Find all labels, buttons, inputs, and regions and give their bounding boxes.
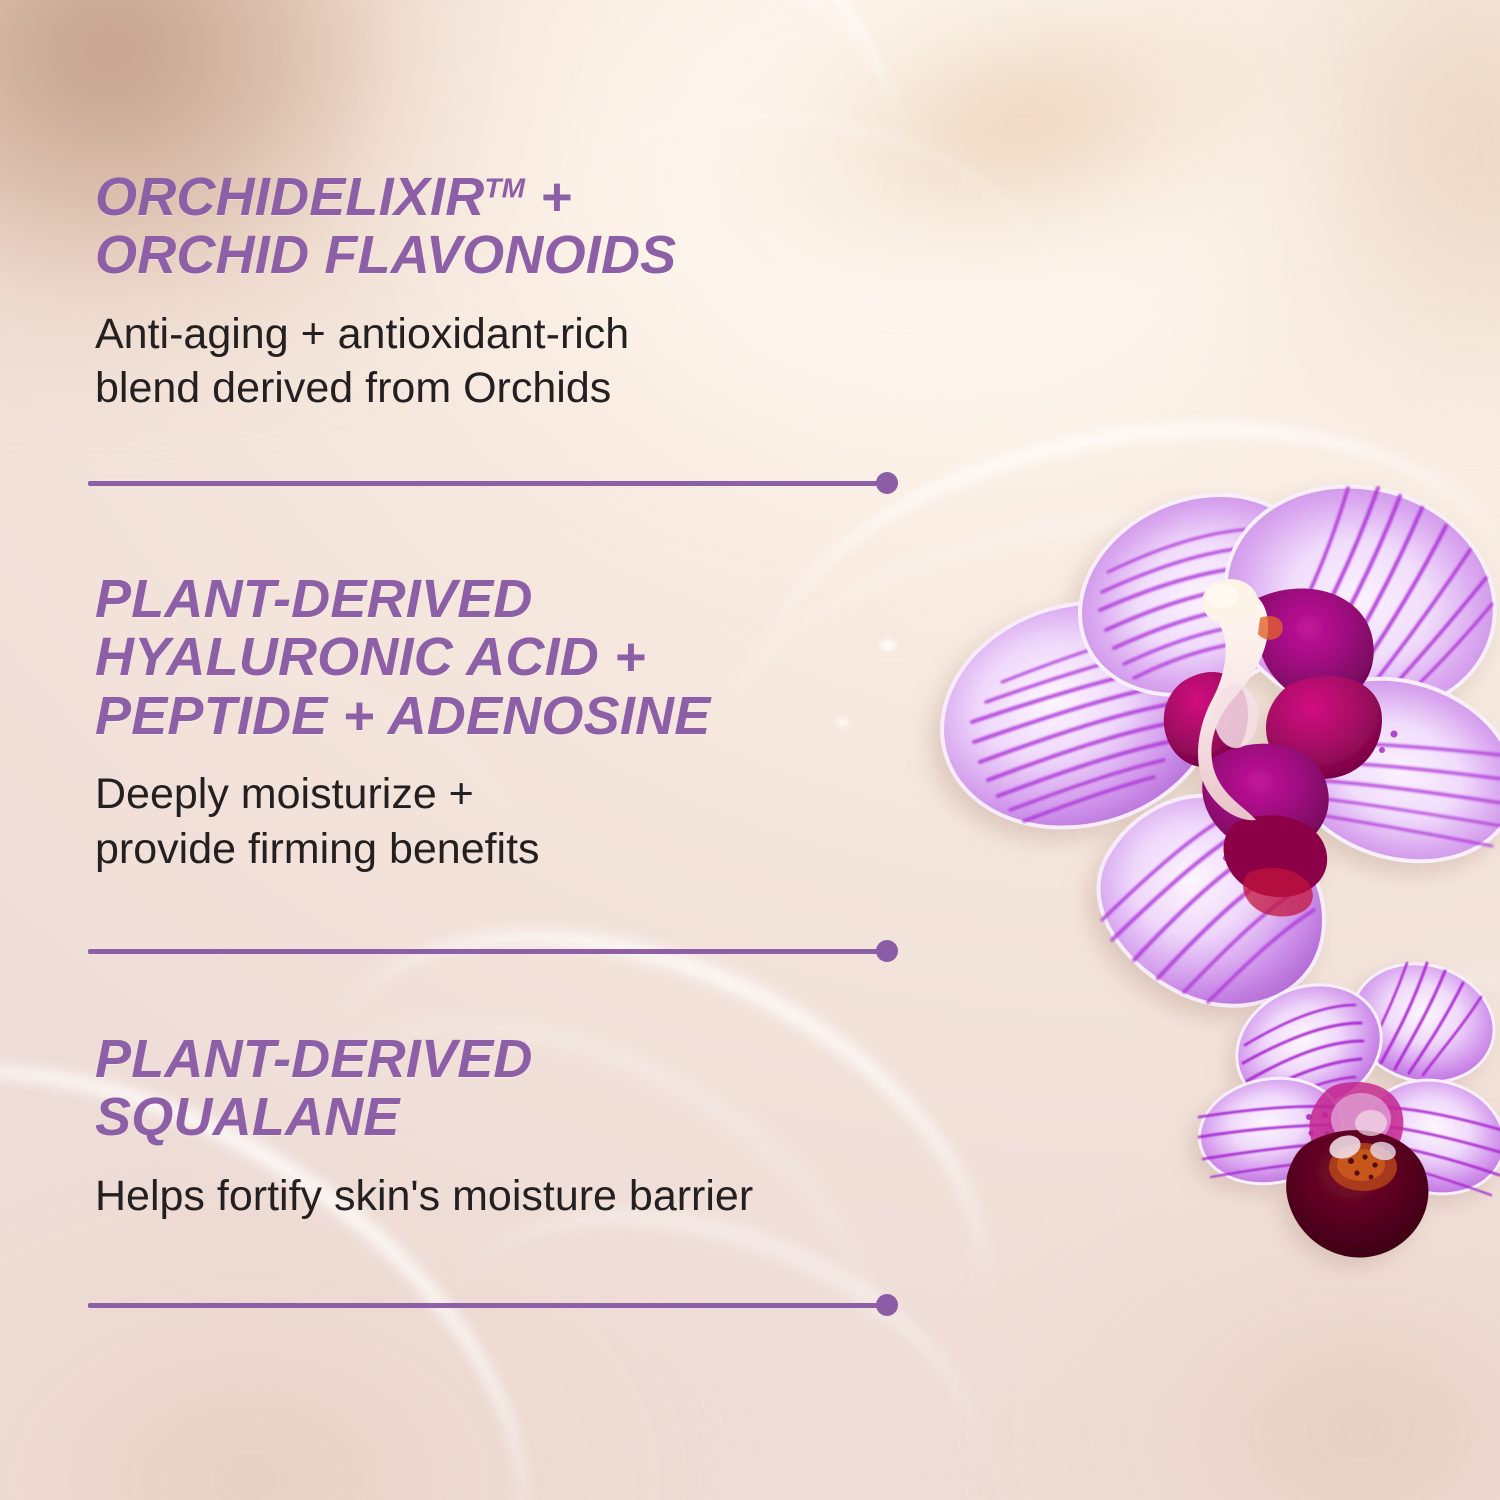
divider-endpoint-dot-icon — [876, 472, 898, 494]
ingredient-block-squalane: PLANT-DERIVED SQUALANE Helps fortify ski… — [95, 1030, 753, 1223]
ingredient-block-hyaluronic-peptide-adenosine: PLANT-DERIVED HYALURONIC ACID + PEPTIDE … — [95, 570, 710, 876]
divider-endpoint-dot-icon — [876, 940, 898, 962]
section-divider-1 — [88, 472, 898, 494]
ingredient-subtext-squalane: Helps fortify skin's moisture barrier — [95, 1147, 753, 1224]
divider-rule — [88, 481, 878, 486]
ingredient-block-orchidelixir: ORCHIDELIXIRTM + ORCHID FLAVONOIDS Anti-… — [95, 168, 676, 416]
ingredient-headline-squalane: PLANT-DERIVED SQUALANE — [95, 1030, 753, 1147]
section-divider-2 — [88, 940, 898, 962]
divider-endpoint-dot-icon — [876, 1294, 898, 1316]
ingredient-subtext-orchidelixir: Anti-aging + antioxidant-rich blend deri… — [95, 285, 676, 416]
divider-rule — [88, 949, 878, 954]
section-divider-3 — [88, 1294, 898, 1316]
ingredient-headline-hyaluronic: PLANT-DERIVED HYALURONIC ACID + PEPTIDE … — [95, 570, 710, 745]
ingredient-subtext-hyaluronic: Deeply moisturize + provide firming bene… — [95, 745, 710, 876]
headline-prefix: ORCHIDELIXIR — [95, 167, 484, 227]
ingredient-headline-orchidelixir: ORCHIDELIXIRTM + ORCHID FLAVONOIDS — [95, 168, 676, 285]
divider-rule — [88, 1303, 878, 1308]
trademark-symbol: TM — [484, 173, 525, 204]
product-ingredient-graphic: ORCHIDELIXIRTM + ORCHID FLAVONOIDS Anti-… — [0, 0, 1500, 1500]
ingredient-block-list: ORCHIDELIXIRTM + ORCHID FLAVONOIDS Anti-… — [0, 0, 1500, 1500]
